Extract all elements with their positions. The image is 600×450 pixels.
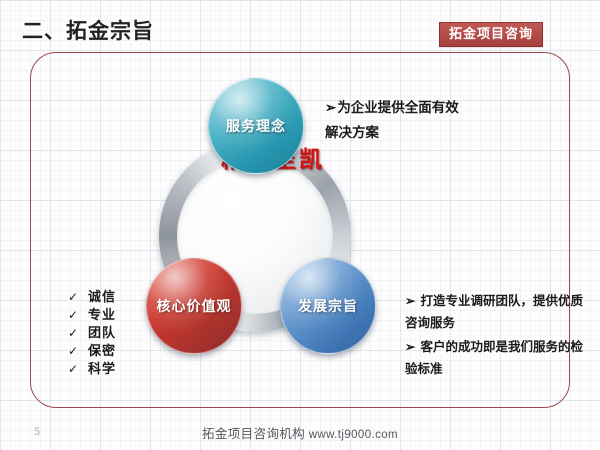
- service-philosophy-note-text1: 为企业提供全面有效: [337, 100, 459, 115]
- core-values-list: ✓诚信 ✓专业 ✓团队 ✓保密 ✓科学: [68, 288, 116, 378]
- check-icon: ✓: [68, 324, 88, 342]
- list-item: ✓科学: [68, 360, 116, 378]
- list-item-label: 保密: [88, 342, 116, 360]
- mission-notes: ➢打造专业调研团队，提供优质咨询服务 ➢客户的成功即是我们服务的检验标准: [405, 290, 590, 382]
- service-philosophy-note-line1: ➢为企业提供全面有效: [325, 95, 515, 120]
- circle-core-values-label: 核心价值观: [157, 296, 232, 316]
- footer-org: 拓金项目咨询机构: [202, 427, 305, 441]
- list-item-label: 团队: [88, 324, 116, 342]
- list-item-label: 专业: [88, 306, 116, 324]
- list-item: ✓保密: [68, 342, 116, 360]
- mission-note-item-text: 打造专业调研团队，提供优质咨询服务: [405, 294, 583, 330]
- footer: 拓金项目咨询机构 www.tj9000.com: [0, 423, 600, 442]
- circle-development-mission[interactable]: 发展宗旨: [280, 258, 376, 354]
- check-icon: ✓: [68, 306, 88, 324]
- arrow-bullet-icon: ➢: [325, 100, 336, 115]
- brand-badge: 拓金项目咨询: [439, 22, 543, 47]
- slide-canvas: 二、拓金宗旨 拓金项目咨询 精诚至凯 服务理念 核心价值观 发展宗旨 ➢为企业提…: [0, 0, 600, 450]
- check-icon: ✓: [68, 288, 88, 306]
- circle-service-philosophy-label: 服务理念: [226, 116, 286, 136]
- mission-note-item-text: 客户的成功即是我们服务的检验标准: [405, 340, 583, 376]
- mission-note-item: ➢客户的成功即是我们服务的检验标准: [405, 336, 590, 380]
- list-item: ✓专业: [68, 306, 116, 324]
- list-item-label: 科学: [88, 360, 116, 378]
- list-item-label: 诚信: [88, 288, 116, 306]
- check-icon: ✓: [68, 360, 88, 378]
- service-philosophy-note: ➢为企业提供全面有效 解决方案: [325, 95, 515, 145]
- arrow-bullet-icon: ➢: [405, 294, 415, 308]
- page-title: 二、拓金宗旨: [22, 18, 154, 44]
- list-item: ✓诚信: [68, 288, 116, 306]
- service-philosophy-note-line2: 解决方案: [325, 120, 515, 145]
- footer-site: www.tj9000.com: [309, 429, 398, 441]
- check-icon: ✓: [68, 342, 88, 360]
- list-item: ✓团队: [68, 324, 116, 342]
- arrow-bullet-icon: ➢: [405, 340, 415, 354]
- circle-service-philosophy[interactable]: 服务理念: [208, 78, 304, 174]
- mission-note-item: ➢打造专业调研团队，提供优质咨询服务: [405, 290, 590, 334]
- circle-development-mission-label: 发展宗旨: [298, 296, 358, 316]
- circle-core-values[interactable]: 核心价值观: [146, 258, 242, 354]
